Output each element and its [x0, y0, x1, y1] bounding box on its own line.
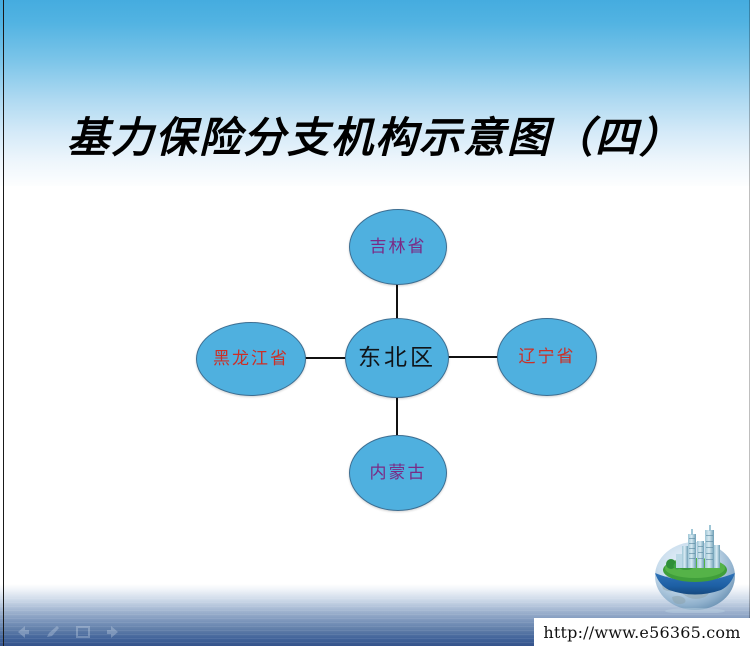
node-heilongjiang[interactable]: 黑龙江省	[196, 322, 306, 396]
node-dongbei-region-label: 东北区	[358, 347, 436, 370]
page-icon[interactable]	[74, 624, 92, 640]
slideshow-nav-toolbar[interactable]	[14, 622, 122, 642]
node-liaoning-label: 辽宁省	[519, 349, 576, 366]
forward-arrow-icon[interactable]	[104, 624, 122, 640]
presentation-slide: 基力保险分支机构示意图（四） 吉林省 黑龙江省 东北区 辽宁省 内蒙古	[0, 0, 750, 646]
node-jilin-label: 吉林省	[370, 239, 427, 256]
node-dongbei-region[interactable]: 东北区	[345, 318, 449, 398]
connector-center-to-top	[396, 284, 398, 320]
earth-city-globe-logo	[646, 521, 744, 613]
node-jilin[interactable]: 吉林省	[349, 209, 447, 285]
node-heilongjiang-label: 黑龙江省	[213, 351, 289, 368]
website-url-bar[interactable]: http://www.e56365.com	[534, 618, 750, 646]
node-neimenggu-label: 内蒙古	[370, 465, 427, 482]
connector-center-to-bottom	[396, 396, 398, 436]
connector-center-to-right	[446, 356, 499, 358]
website-url-text: http://www.e56365.com	[543, 623, 740, 642]
node-liaoning[interactable]: 辽宁省	[497, 318, 597, 396]
back-arrow-icon[interactable]	[14, 624, 32, 640]
org-chart-diagram: 吉林省 黑龙江省 东北区 辽宁省 内蒙古	[0, 0, 750, 646]
node-neimenggu[interactable]: 内蒙古	[349, 435, 447, 511]
connector-center-to-left	[302, 357, 348, 359]
pen-icon[interactable]	[44, 624, 62, 640]
